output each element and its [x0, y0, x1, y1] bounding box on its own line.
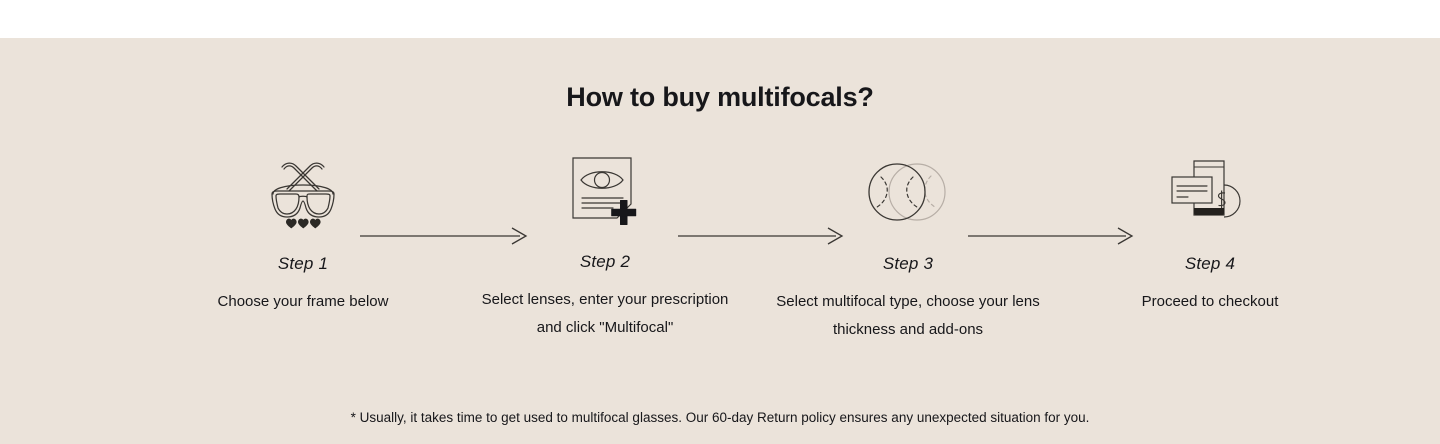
eyeglasses-hearts-icon	[262, 154, 344, 235]
plus-badge	[611, 200, 636, 225]
howto-section: How to buy multifocals?	[0, 38, 1440, 444]
step-3-icon-box	[748, 148, 1068, 240]
step-2-label: Step 2	[445, 252, 765, 272]
step-3-label: Step 3	[748, 254, 1068, 274]
step-4-icon-box	[1050, 148, 1370, 240]
step-1-icon-box	[143, 148, 463, 240]
step-item-3: Step 3 Select multifocal type, choose yo…	[748, 148, 1068, 344]
step-item-2: Step 2 Select lenses, enter your prescri…	[445, 148, 765, 342]
overlapping-lenses-icon	[865, 156, 951, 233]
step-item-1: Step 1 Choose your frame below	[143, 148, 463, 316]
step-2-icon-box	[445, 148, 765, 240]
step-3-description-line1: Select multifocal type, choose your lens	[748, 288, 1068, 316]
step-2-description-line2: and click "Multifocal"	[445, 314, 765, 342]
step-2-description-line1: Select lenses, enter your prescription	[445, 286, 765, 314]
phone-card-dollar-icon	[1168, 153, 1252, 236]
hearts-group	[286, 218, 321, 228]
step-1-label: Step 1	[143, 254, 463, 274]
step-4-label: Step 4	[1050, 254, 1370, 274]
prescription-document-plus-icon	[565, 152, 645, 237]
step-item-4: Step 4 Proceed to checkout	[1050, 148, 1370, 316]
step-3-description-line2: thickness and add-ons	[748, 316, 1068, 344]
top-white-strip	[0, 0, 1440, 38]
multifocal-howto-banner: How to buy multifocals?	[0, 0, 1440, 444]
steps-row: Step 1 Choose your frame below	[0, 148, 1440, 378]
page-title: How to buy multifocals?	[0, 82, 1440, 113]
step-1-description: Choose your frame below	[143, 288, 463, 316]
step-3-description: Select multifocal type, choose your lens…	[748, 288, 1068, 344]
return-policy-footnote: * Usually, it takes time to get used to …	[0, 410, 1440, 425]
step-2-description: Select lenses, enter your prescription a…	[445, 286, 765, 342]
step-4-description: Proceed to checkout	[1050, 288, 1370, 316]
